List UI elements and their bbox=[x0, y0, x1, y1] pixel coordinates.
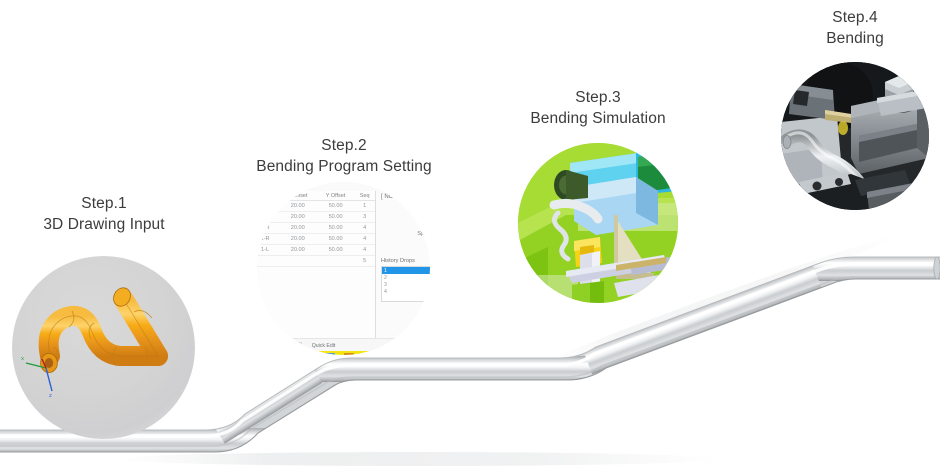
cell-y: 50.00 bbox=[317, 223, 355, 234]
bend-table[interactable]: C Stack X Offset Y Offset Seq 42.51 1-R bbox=[257, 191, 375, 267]
table-row[interactable]: 5 bbox=[257, 256, 375, 267]
step-3-group: Step.3 Bending Simulation bbox=[516, 88, 680, 130]
axis-control-pane: [ NO.1 ] Y - Feed Target 31.2 Speed 1 ▾ bbox=[376, 191, 430, 338]
svg-text:Z: Z bbox=[49, 393, 52, 398]
step-2-thumbnail[interactable]: Total Length 403.39 C Stack X Offset Y O… bbox=[257, 182, 430, 355]
col-x-offset: X Offset bbox=[279, 191, 317, 201]
table-row[interactable]: 90.00 1-R 20.00 50.00 4 bbox=[257, 234, 375, 245]
cell-seq: 4 bbox=[354, 234, 375, 245]
cell-seq: 3 bbox=[354, 212, 375, 223]
cell-seq: 1 bbox=[354, 201, 375, 212]
table-row[interactable]: 24.05 1-L 20.00 50.00 4 bbox=[257, 245, 375, 256]
file-tab[interactable]: File bbox=[325, 353, 335, 356]
step-1-title: 3D Drawing Input bbox=[36, 215, 172, 236]
history-index: 4 bbox=[384, 289, 387, 295]
run-button[interactable]: ▶ bbox=[410, 340, 421, 351]
col-seq: Seq bbox=[354, 191, 375, 201]
total-length-row: Total Length 403.39 bbox=[257, 182, 430, 190]
offset-field-row: +/- 0.00 bbox=[381, 243, 430, 251]
service-tab[interactable]: Service bbox=[382, 353, 392, 356]
step-4-number: Step.4 bbox=[773, 8, 937, 29]
cell-stack: 1-R bbox=[257, 201, 279, 212]
history-drops-list[interactable]: 1 0.00 2 0.00 3 0.00 4 0 bbox=[381, 266, 430, 302]
duration-label: Duration Of Process bbox=[257, 343, 273, 349]
speed-label: Speed bbox=[417, 231, 430, 237]
step-3-number: Step.3 bbox=[516, 88, 680, 109]
bend-tab[interactable]: Bend bbox=[306, 353, 316, 356]
cell-y: 50.00 bbox=[317, 212, 355, 223]
toolbar-buttons: ▶ ⏸ ▣ ↻ ✖ bbox=[410, 340, 430, 351]
table-header-row: C Stack X Offset Y Offset Seq bbox=[257, 191, 375, 201]
step-4-thumbnail[interactable] bbox=[781, 62, 929, 210]
cell-seq: 5 bbox=[354, 256, 375, 267]
step-2-title: Bending Program Setting bbox=[238, 157, 450, 178]
cad-orange-tube-drawing: X Z bbox=[12, 256, 195, 439]
cell-y: 50.00 bbox=[317, 245, 355, 256]
history-index: 1 bbox=[384, 268, 387, 274]
cell-x: 20.00 bbox=[279, 245, 317, 256]
hmi-footer: Duration Of Process 6.00 Quick Edit ▶ ⏸ … bbox=[257, 338, 430, 352]
quick-edit-label[interactable]: Quick Edit bbox=[312, 343, 336, 349]
col-y-offset: Y Offset bbox=[317, 191, 355, 201]
duration-input[interactable]: 6.00 bbox=[276, 342, 302, 350]
step-2-number: Step.2 bbox=[238, 136, 450, 157]
step-1-caption: Step.1 3D Drawing Input bbox=[36, 194, 172, 236]
cell-seq: 4 bbox=[354, 223, 375, 234]
step-1-number: Step.1 bbox=[36, 194, 172, 215]
step-4-title: Bending bbox=[773, 29, 937, 50]
cell-stack: 1-R bbox=[257, 223, 279, 234]
hmi-tab-bar: Bend File I/O Set Service bbox=[257, 351, 430, 355]
speed-field-row: Speed 1 ▾ bbox=[381, 230, 430, 238]
tube-end-cap bbox=[934, 257, 940, 279]
cell-x: 20.00 bbox=[279, 234, 317, 245]
step-3-caption: Step.3 Bending Simulation bbox=[516, 88, 680, 130]
offset-label: +/- bbox=[427, 244, 430, 250]
history-index: 2 bbox=[384, 275, 387, 281]
step-3-thumbnail[interactable] bbox=[518, 143, 678, 303]
pause-button[interactable]: ⏸ bbox=[423, 340, 430, 351]
step-2-caption: Step.2 Bending Program Setting bbox=[238, 136, 450, 178]
hmi-screen: Total Length 403.39 C Stack X Offset Y O… bbox=[257, 182, 430, 355]
list-item[interactable]: 4 0.00 bbox=[382, 288, 430, 295]
step-1-group: Step.1 3D Drawing Input bbox=[36, 194, 172, 236]
target-field-row: Target 31.2 bbox=[381, 217, 430, 225]
cell-x: 20.00 bbox=[279, 223, 317, 234]
target-label: Target bbox=[418, 218, 430, 224]
cell-y: 50.00 bbox=[317, 234, 355, 245]
set-tab[interactable]: Set bbox=[363, 353, 373, 356]
total-length-label: Total Length bbox=[403, 182, 430, 187]
list-item[interactable]: 2 0.00 bbox=[382, 274, 430, 281]
list-item[interactable]: 1 0.00 bbox=[382, 267, 430, 274]
table-row[interactable]: 90.00 2-R 20.00 50.00 3 bbox=[257, 212, 375, 223]
bending-machine-photo bbox=[781, 62, 929, 210]
cell-stack: 1-R bbox=[257, 234, 279, 245]
cell-stack: 2-R bbox=[257, 212, 279, 223]
cell-stack bbox=[257, 256, 279, 267]
step-4-group: Step.4 Bending bbox=[773, 8, 937, 50]
history-index: 3 bbox=[384, 282, 387, 288]
cell-x: 20.00 bbox=[279, 201, 317, 212]
bending-simulation-render bbox=[518, 143, 678, 303]
diagram-canvas: Step.1 3D Drawing Input bbox=[0, 0, 940, 470]
io-tab[interactable]: I/O bbox=[344, 353, 354, 356]
list-item[interactable]: 3 0.00 bbox=[382, 281, 430, 288]
program-no-label: [ NO.1 ] bbox=[381, 194, 430, 200]
step-3-title: Bending Simulation bbox=[516, 109, 680, 130]
axis-name-label: Y - Feed bbox=[381, 205, 430, 212]
cell-x: 20.00 bbox=[279, 212, 317, 223]
col-stack: Stack bbox=[257, 191, 279, 201]
cell-stack: 1-L bbox=[257, 245, 279, 256]
bend-table-pane: C Stack X Offset Y Offset Seq 42.51 1-R bbox=[257, 191, 376, 338]
step-4-caption: Step.4 Bending bbox=[773, 8, 937, 50]
table-row[interactable]: 42.51 1-R 20.00 50.00 1 bbox=[257, 201, 375, 212]
svg-text:X: X bbox=[21, 356, 24, 361]
step-2-group: Step.2 Bending Program Setting bbox=[238, 136, 450, 178]
cell-y bbox=[317, 256, 355, 267]
table-row[interactable]: 90.00 1-R 20.00 50.00 4 bbox=[257, 223, 375, 234]
step-1-thumbnail[interactable]: X Z bbox=[12, 256, 195, 439]
cell-y: 50.00 bbox=[317, 201, 355, 212]
hmi-body: C Stack X Offset Y Offset Seq 42.51 1-R bbox=[257, 191, 430, 338]
cell-seq: 4 bbox=[354, 245, 375, 256]
history-drops-label: History Drops bbox=[381, 258, 430, 264]
cell-x bbox=[279, 256, 317, 267]
